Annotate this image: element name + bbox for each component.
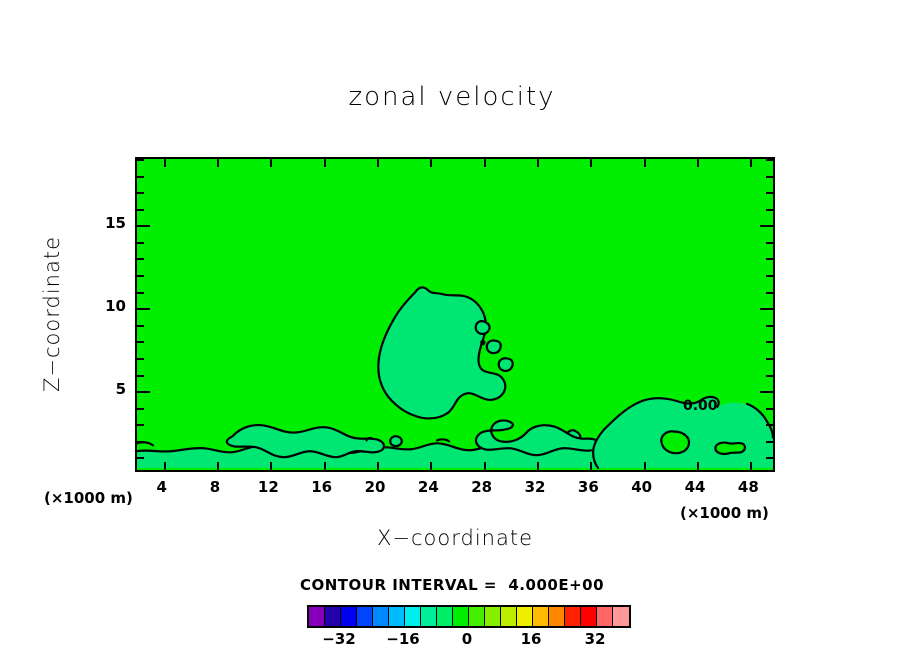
x-axis-tick (697, 462, 699, 470)
x-axis-tick-top (430, 159, 432, 167)
x-axis-tick-top (644, 159, 646, 167)
colorbar-cell (565, 607, 581, 626)
y-axis-tick (137, 457, 144, 459)
contour-label-zero: 0.00 (683, 398, 718, 414)
colorbar-tick-labels: −32−1601632 (307, 630, 627, 650)
x-axis-tick-label: 20 (365, 478, 386, 496)
y-axis-tick-right (760, 225, 773, 227)
y-axis-tick (137, 441, 144, 443)
colorbar-cell (357, 607, 373, 626)
x-axis-tick-top (537, 159, 539, 167)
y-axis-tick-right (766, 341, 773, 343)
colorbar-cell (501, 607, 517, 626)
x-axis-tick-top (324, 159, 326, 167)
colorbar-cell (469, 607, 485, 626)
colorbar-cell (421, 607, 437, 626)
y-axis-tick-right (766, 176, 773, 178)
colorbar-cell (597, 607, 613, 626)
colorbar-cell (341, 607, 357, 626)
y-axis-tick-label: 5 (116, 380, 126, 398)
colorbar-cell (533, 607, 549, 626)
colorbar-cell (613, 607, 629, 626)
y-axis-tick-right (766, 159, 773, 161)
colorbar-tick-label: 32 (585, 630, 606, 648)
y-axis-tick (137, 275, 144, 277)
page-title: zonal velocity (0, 82, 904, 112)
x-axis-tick-label: 44 (685, 478, 706, 496)
colorbar-tick-label: −32 (322, 630, 355, 648)
colorbar-cell (437, 607, 453, 626)
contour-field (137, 159, 773, 470)
y-axis-tick-right (766, 441, 773, 443)
colorbar-cell (389, 607, 405, 626)
x-axis-tick-top (270, 159, 272, 167)
y-axis-tick (137, 242, 144, 244)
x-axis-tick-top (697, 159, 699, 167)
contour-dot (481, 341, 484, 344)
contour-interval-caption: CONTOUR INTERVAL = 4.000E+00 (0, 576, 904, 594)
y-axis-tick-right (760, 308, 773, 310)
y-axis-tick-right (760, 391, 773, 393)
y-axis-tick (137, 341, 144, 343)
y-axis-tick (137, 391, 150, 393)
colorbar-cell (405, 607, 421, 626)
x-axis-tick-label: 32 (525, 478, 546, 496)
colorbar-cell (485, 607, 501, 626)
plot-page: zonal velocity (0, 0, 904, 654)
x-axis-tick (164, 462, 166, 470)
colorbar-cell (325, 607, 341, 626)
x-units-right-label: (×1000 m) (680, 504, 769, 522)
x-axis-tick-label: 28 (471, 478, 492, 496)
x-axis-tick-label: 24 (418, 478, 439, 496)
y-axis-tick-right (766, 258, 773, 260)
y-axis-tick-right (766, 192, 773, 194)
x-axis-tick-top (590, 159, 592, 167)
x-axis-tick-top (164, 159, 166, 167)
y-axis-tick (137, 308, 150, 310)
x-axis-tick (644, 462, 646, 470)
colorbar-cell (581, 607, 597, 626)
x-axis-tick-label: 12 (258, 478, 279, 496)
y-axis-tick-right (766, 325, 773, 327)
y-axis-tick-right (766, 275, 773, 277)
colorbar (307, 605, 631, 628)
x-axis-tick-top (377, 159, 379, 167)
y-axis-tick (137, 375, 144, 377)
x-axis-tick (590, 462, 592, 470)
y-axis-tick-right (766, 209, 773, 211)
y-axis-tick-right (766, 242, 773, 244)
x-axis-tick (484, 462, 486, 470)
y-axis-tick (137, 408, 144, 410)
y-axis-tick (137, 192, 144, 194)
colorbar-tick-label: −16 (386, 630, 419, 648)
x-axis-tick (217, 462, 219, 470)
y-axis-tick-right (766, 375, 773, 377)
x-axis-tick (430, 462, 432, 470)
y-axis-tick (137, 258, 144, 260)
x-axis-tick (377, 462, 379, 470)
x-axis-tick (270, 462, 272, 470)
y-axis-tick (137, 424, 144, 426)
colorbar-cell (549, 607, 565, 626)
x-axis-tick-top (484, 159, 486, 167)
y-axis-tick-right (766, 424, 773, 426)
colorbar-tick-label: 0 (462, 630, 472, 648)
x-axis-tick-top (217, 159, 219, 167)
y-axis-tick-label: 15 (105, 214, 126, 232)
x-axis-tick-label: 36 (578, 478, 599, 496)
colorbar-cell (517, 607, 533, 626)
colorbar-tick-label: 16 (521, 630, 542, 648)
colorbar-cell (309, 607, 325, 626)
x-axis-tick (750, 462, 752, 470)
y-axis-tick-right (766, 292, 773, 294)
y-axis-tick-right (766, 408, 773, 410)
y-axis-tick-label: 10 (105, 297, 126, 315)
y-axis-tick (137, 159, 144, 161)
contour-plot-area (135, 157, 775, 472)
x-axis-tick-label: 40 (631, 478, 652, 496)
x-units-left-label: (×1000 m) (44, 489, 133, 507)
y-axis-tick (137, 176, 144, 178)
x-axis-tick-label: 4 (156, 478, 166, 496)
x-axis-tick-label: 8 (210, 478, 220, 496)
y-axis-tick (137, 292, 144, 294)
x-axis-tick-label: 16 (311, 478, 332, 496)
y-axis-tick (137, 225, 150, 227)
x-axis-tick-top (750, 159, 752, 167)
colorbar-cell (373, 607, 389, 626)
y-axis-title: Z−coordinate (40, 236, 64, 392)
x-axis-tick (324, 462, 326, 470)
x-axis-tick-label: 48 (738, 478, 759, 496)
colorbar-cell (453, 607, 469, 626)
x-axis-title: X−coordinate (135, 526, 775, 550)
y-axis-tick (137, 358, 144, 360)
y-axis-tick (137, 325, 144, 327)
y-axis-tick-right (766, 457, 773, 459)
y-axis-tick-right (766, 358, 773, 360)
x-axis-tick (537, 462, 539, 470)
y-axis-tick (137, 209, 144, 211)
